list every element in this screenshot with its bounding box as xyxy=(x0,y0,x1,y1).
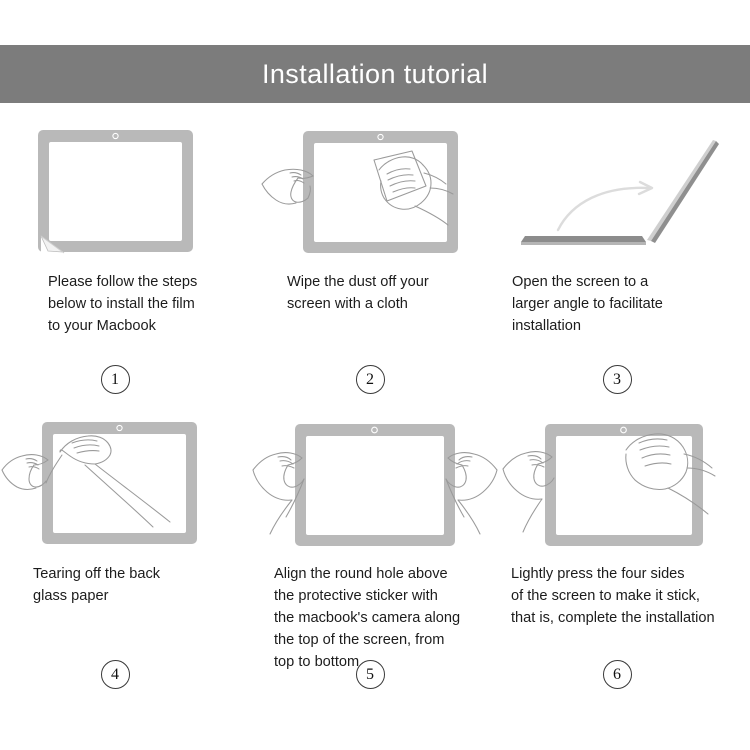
step-number-badge: 1 xyxy=(101,365,130,394)
step-3-line-1: Open the screen to a xyxy=(512,271,736,293)
hands-peeling-back-paper-icon xyxy=(0,410,250,555)
step-1-text: Please follow the steps below to install… xyxy=(48,271,250,337)
step-6-line-2: of the screen to make it stick, xyxy=(511,585,736,607)
step-5-line-3: the macbook's camera along xyxy=(274,607,486,629)
header-banner: Installation tutorial xyxy=(0,45,750,103)
step-6-number-wrap: 6 xyxy=(492,660,742,689)
step-1-line-1: Please follow the steps xyxy=(48,271,236,293)
step-number-badge: 3 xyxy=(603,365,632,394)
step-5-illustration xyxy=(250,410,500,555)
tutorial-page: Installation tutorial Please follow the … xyxy=(0,0,750,750)
step-card-1: Please follow the steps below to install… xyxy=(0,118,250,410)
step-5-line-4: the top of the screen, from xyxy=(274,629,486,651)
step-1-illustration xyxy=(0,118,250,263)
step-4-line-2: glass paper xyxy=(33,585,236,607)
tablet-with-peeling-film-icon xyxy=(0,118,250,263)
step-4-text: Tearing off the back glass paper xyxy=(33,563,250,607)
step-3-line-3: installation xyxy=(512,315,736,337)
step-4-line-1: Tearing off the back xyxy=(33,563,236,585)
hands-wiping-screen-with-cloth-icon xyxy=(250,118,500,263)
step-number-badge: 2 xyxy=(356,365,385,394)
step-1-number-wrap: 1 xyxy=(0,365,240,394)
step-3-illustration xyxy=(500,118,750,263)
step-5-line-1: Align the round hole above xyxy=(274,563,486,585)
page-title: Installation tutorial xyxy=(262,59,488,90)
step-4-illustration xyxy=(0,410,250,555)
step-3-line-2: larger angle to facilitate xyxy=(512,293,736,315)
steps-grid: Please follow the steps below to install… xyxy=(0,118,750,702)
two-hands-aligning-film-icon xyxy=(250,410,500,555)
step-1-line-3: to your Macbook xyxy=(48,315,236,337)
step-5-text: Align the round hole above the protectiv… xyxy=(274,563,500,673)
step-2-number-wrap: 2 xyxy=(245,365,495,394)
step-6-text: Lightly press the four sides of the scre… xyxy=(511,563,750,629)
step-card-4: Tearing off the back glass paper 4 xyxy=(0,410,250,702)
step-5-number-wrap: 5 xyxy=(245,660,495,689)
step-card-3: Open the screen to a larger angle to fac… xyxy=(500,118,750,410)
step-card-6: Lightly press the four sides of the scre… xyxy=(500,410,750,702)
laptop-open-angle-arrow-icon xyxy=(500,118,750,263)
step-number-badge: 4 xyxy=(101,660,130,689)
step-2-line-1: Wipe the dust off your xyxy=(287,271,486,293)
step-5-line-2: the protective sticker with xyxy=(274,585,486,607)
step-6-line-3: that is, complete the installation xyxy=(511,607,736,629)
step-6-illustration xyxy=(500,410,750,555)
hand-pressing-screen-edges-icon xyxy=(500,410,750,555)
step-number-badge: 5 xyxy=(356,660,385,689)
step-6-line-1: Lightly press the four sides xyxy=(511,563,736,585)
step-card-2: Wipe the dust off your screen with a clo… xyxy=(250,118,500,410)
step-number-badge: 6 xyxy=(603,660,632,689)
step-1-line-2: below to install the film xyxy=(48,293,236,315)
step-2-text: Wipe the dust off your screen with a clo… xyxy=(287,271,500,315)
step-2-line-2: screen with a cloth xyxy=(287,293,486,315)
step-card-5: Align the round hole above the protectiv… xyxy=(250,410,500,702)
step-3-text: Open the screen to a larger angle to fac… xyxy=(512,271,750,337)
step-3-number-wrap: 3 xyxy=(492,365,742,394)
step-4-number-wrap: 4 xyxy=(0,660,240,689)
step-2-illustration xyxy=(250,118,500,263)
